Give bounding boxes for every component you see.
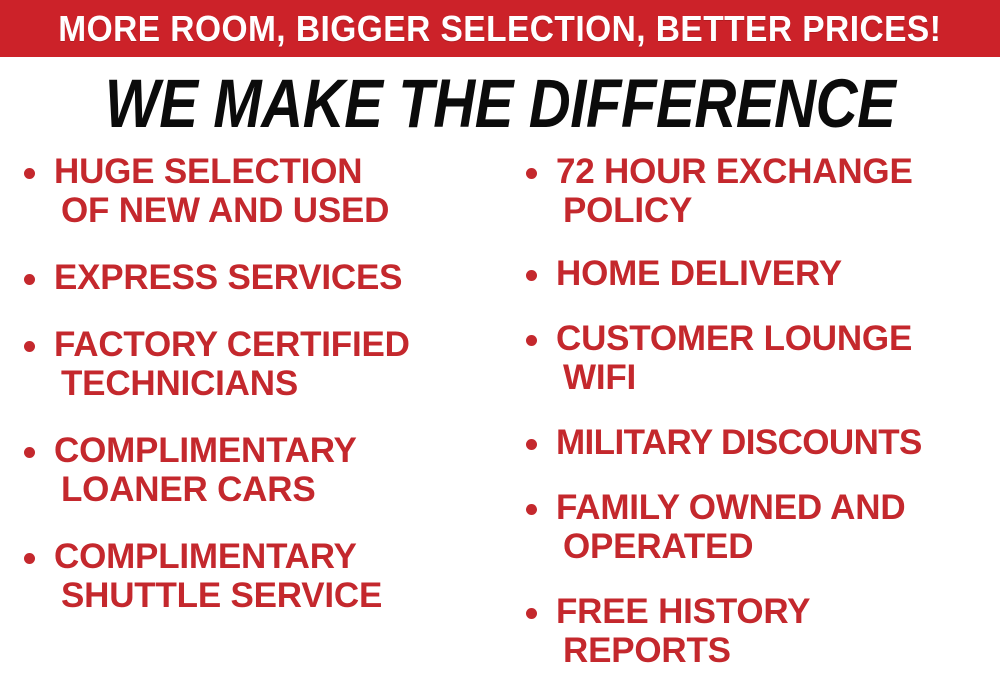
list-item-line1: CUSTOMER LOUNGE bbox=[556, 319, 912, 358]
list-item-line2: LOANER CARS bbox=[54, 470, 500, 509]
bullet-dot-icon bbox=[24, 553, 35, 564]
list-item: HOME DELIVERY bbox=[516, 254, 1000, 293]
bullet-dot-icon bbox=[526, 439, 537, 450]
list-item-line1: FREE HISTORY bbox=[556, 592, 810, 631]
list-item: CUSTOMER LOUNGE WIFI bbox=[516, 319, 1000, 397]
headline-container: WE MAKE THE DIFFERENCE bbox=[0, 64, 1000, 142]
bullet-dot-icon bbox=[24, 274, 35, 285]
list-item: COMPLIMENTARY LOANER CARS bbox=[14, 431, 500, 509]
bullet-dot-icon bbox=[24, 168, 35, 179]
list-item-line1: HOME DELIVERY bbox=[556, 254, 842, 293]
list-item-line2: TECHNICIANS bbox=[54, 364, 500, 403]
list-item: FAMILY OWNED AND OPERATED bbox=[516, 488, 1000, 566]
bullet-dot-icon bbox=[24, 447, 35, 458]
list-item-line1: 72 HOUR EXCHANGE bbox=[556, 152, 913, 191]
list-item-line1: FACTORY CERTIFIED bbox=[54, 325, 410, 364]
bullet-dot-icon bbox=[526, 270, 537, 281]
bullet-dot-icon bbox=[526, 335, 537, 346]
list-item: FACTORY CERTIFIED TECHNICIANS bbox=[14, 325, 500, 403]
list-item: COMPLIMENTARY SHUTTLE SERVICE bbox=[14, 537, 500, 615]
list-item-line2: OPERATED bbox=[556, 527, 1000, 566]
bullet-dot-icon bbox=[526, 504, 537, 515]
top-banner: MORE ROOM, BIGGER SELECTION, BETTER PRIC… bbox=[0, 0, 1000, 57]
bullet-dot-icon bbox=[526, 168, 537, 179]
bullet-dot-icon bbox=[526, 608, 537, 619]
advertisement-poster: MORE ROOM, BIGGER SELECTION, BETTER PRIC… bbox=[0, 0, 1000, 694]
list-item: HUGE SELECTION OF NEW AND USED bbox=[14, 152, 500, 230]
feature-columns: HUGE SELECTION OF NEW AND USED EXPRESS S… bbox=[0, 152, 1000, 694]
list-item-line1: FAMILY OWNED AND bbox=[556, 488, 905, 527]
list-item: FREE HISTORY REPORTS bbox=[516, 592, 1000, 670]
top-banner-text: MORE ROOM, BIGGER SELECTION, BETTER PRIC… bbox=[58, 11, 941, 47]
feature-column-right: 72 HOUR EXCHANGE POLICY HOME DELIVERY CU… bbox=[516, 152, 1000, 694]
list-item-line1: MILITARY DISCOUNTS bbox=[556, 423, 922, 462]
list-item-line2: POLICY bbox=[556, 191, 1000, 230]
list-item-line2: REPORTS bbox=[556, 631, 1000, 670]
feature-column-left: HUGE SELECTION OF NEW AND USED EXPRESS S… bbox=[14, 152, 500, 643]
list-item-line2: WIFI bbox=[556, 358, 1000, 397]
list-item: MILITARY DISCOUNTS bbox=[516, 423, 1000, 462]
list-item-line1: COMPLIMENTARY bbox=[54, 431, 357, 470]
list-item-line1: COMPLIMENTARY bbox=[54, 537, 357, 576]
bullet-dot-icon bbox=[24, 341, 35, 352]
list-item-line1: HUGE SELECTION bbox=[54, 152, 362, 191]
list-item-line2: OF NEW AND USED bbox=[54, 191, 500, 230]
list-item: EXPRESS SERVICES bbox=[14, 258, 500, 297]
list-item: 72 HOUR EXCHANGE POLICY bbox=[516, 152, 1000, 230]
list-item-line2: SHUTTLE SERVICE bbox=[54, 576, 500, 615]
page-title: WE MAKE THE DIFFERENCE bbox=[105, 69, 896, 138]
list-item-line1: EXPRESS SERVICES bbox=[54, 258, 402, 297]
